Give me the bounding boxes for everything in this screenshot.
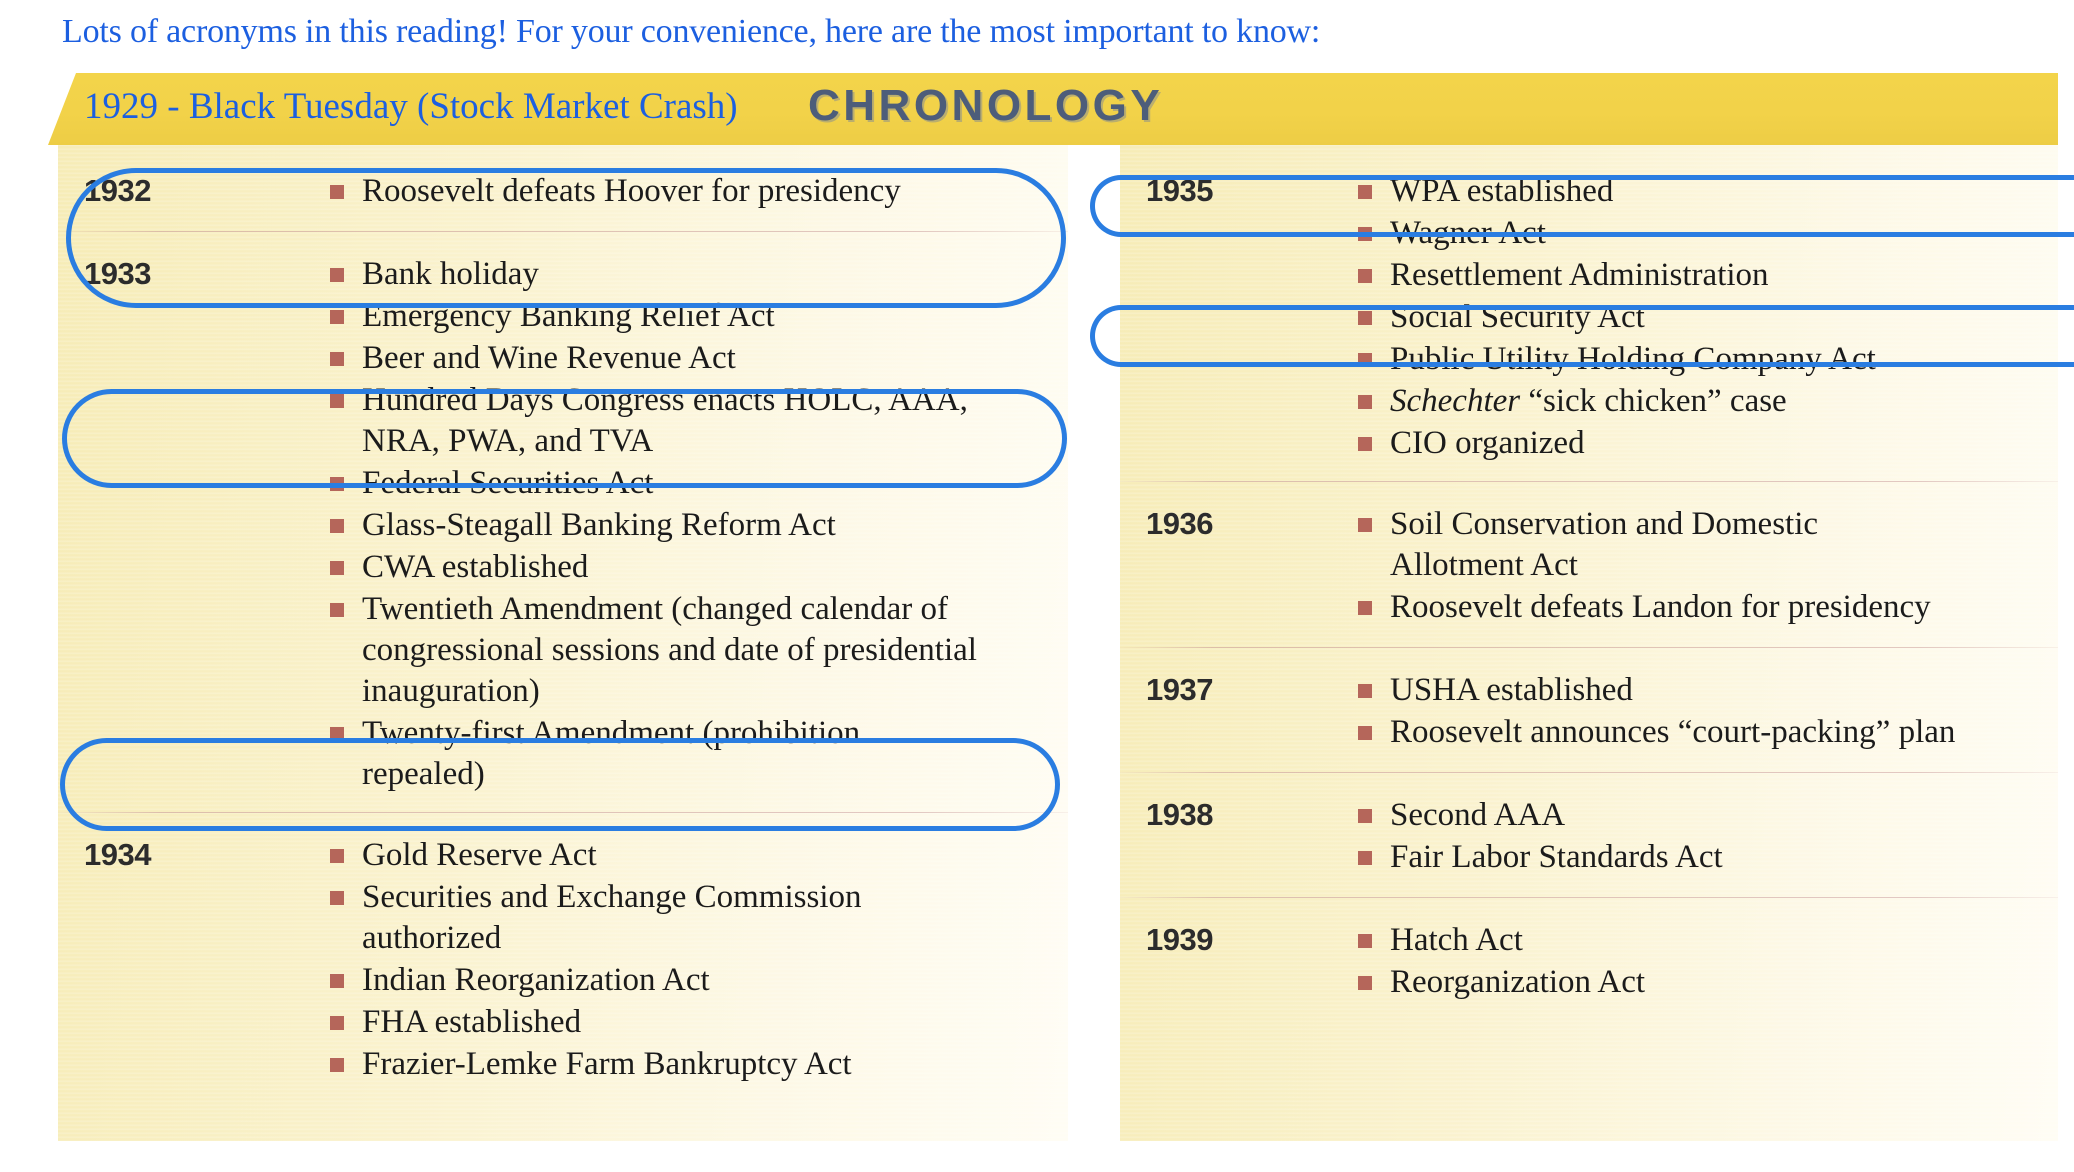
square-bullet-icon xyxy=(1358,227,1372,241)
square-bullet-icon xyxy=(1358,976,1372,990)
list-item: FHA established xyxy=(330,1002,1068,1043)
list-item: Public Utility Holding Company Act xyxy=(1358,339,2058,380)
square-bullet-icon xyxy=(1358,311,1372,325)
square-bullet-icon xyxy=(1358,809,1372,823)
list-item-label: Securities and Exchange Commission autho… xyxy=(362,877,962,959)
year-label: 1938 xyxy=(1120,795,1358,833)
year-label: 1936 xyxy=(1120,504,1358,542)
list-item-label: Public Utility Holding Company Act xyxy=(1390,339,1876,380)
items-list: Bank holiday Emergency Banking Relief Ac… xyxy=(330,254,1068,796)
table-row: 1937 USHA established Roosevelt announce… xyxy=(1120,670,2058,754)
list-item-label: CWA established xyxy=(362,547,588,588)
list-item-label: Soil Conservation and Domestic Allotment… xyxy=(1390,504,1870,586)
year-group-1937: 1937 USHA established Roosevelt announce… xyxy=(1120,648,2058,754)
chronology-banner: 1929 - Black Tuesday (Stock Market Crash… xyxy=(48,73,2058,145)
square-bullet-icon xyxy=(330,352,344,366)
square-bullet-icon xyxy=(330,185,344,199)
square-bullet-icon xyxy=(1358,269,1372,283)
items-list: Second AAA Fair Labor Standards Act xyxy=(1358,795,2058,879)
square-bullet-icon xyxy=(330,974,344,988)
chronology-title: CHRONOLOGY xyxy=(808,81,1163,131)
list-item: Soil Conservation and Domestic Allotment… xyxy=(1358,504,2058,586)
square-bullet-icon xyxy=(1358,353,1372,367)
list-item: Twenty-first Amendment (prohibition repe… xyxy=(330,713,1068,795)
table-row: 1938 Second AAA Fair Labor Standards Act xyxy=(1120,795,2058,879)
black-tuesday-annotation: 1929 - Black Tuesday (Stock Market Crash… xyxy=(84,85,738,128)
list-item: Securities and Exchange Commission autho… xyxy=(330,877,1068,959)
list-item-label: Frazier-Lemke Farm Bankruptcy Act xyxy=(362,1044,852,1085)
items-list: Hatch Act Reorganization Act xyxy=(1358,920,2058,1004)
list-item-label: Second AAA xyxy=(1390,795,1565,836)
list-item-label: Resettlement Administration xyxy=(1390,255,1769,296)
list-item: Fair Labor Standards Act xyxy=(1358,837,2058,878)
list-item: USHA established xyxy=(1358,670,2058,711)
list-item-label: Twentieth Amendment (changed calendar of… xyxy=(362,589,1017,712)
list-item-label: CIO organized xyxy=(1390,423,1585,464)
items-list: Roosevelt defeats Hoover for presidency xyxy=(330,171,1068,213)
table-row: 1933 Bank holiday Emergency Banking Reli… xyxy=(58,254,1068,796)
square-bullet-icon xyxy=(330,394,344,408)
list-item: Resettlement Administration xyxy=(1358,255,2058,296)
list-item-label: Wagner Act xyxy=(1390,213,1546,254)
square-bullet-icon xyxy=(1358,185,1372,199)
square-bullet-icon xyxy=(1358,726,1372,740)
chronology-card: 1929 - Black Tuesday (Stock Market Crash… xyxy=(48,73,2058,1155)
year-group-1935: 1935 WPA established Wagner Act Reset xyxy=(1120,145,2058,465)
square-bullet-icon xyxy=(330,1058,344,1072)
square-bullet-icon xyxy=(330,561,344,575)
list-item: WPA established xyxy=(1358,171,2058,212)
year-group-1934: 1934 Gold Reserve Act Securities and Exc… xyxy=(58,813,1068,1086)
list-item: Emergency Banking Relief Act xyxy=(330,296,1068,337)
list-item: Roosevelt defeats Landon for presidency xyxy=(1358,587,2058,628)
list-item-label: Twenty-first Amendment (prohibition repe… xyxy=(362,713,962,795)
square-bullet-icon xyxy=(1358,851,1372,865)
list-item-label: Roosevelt announces “court-packing” plan xyxy=(1390,712,1955,753)
list-item: Federal Securities Act xyxy=(330,463,1068,504)
year-label: 1932 xyxy=(58,171,330,209)
year-label: 1935 xyxy=(1120,171,1358,209)
list-item-label: Schechter “sick chicken” case xyxy=(1390,381,1787,422)
list-item: Roosevelt defeats Hoover for presidency xyxy=(330,171,1068,212)
items-list: Gold Reserve Act Securities and Exchange… xyxy=(330,835,1068,1086)
list-item-label: USHA established xyxy=(1390,670,1633,711)
list-item: Gold Reserve Act xyxy=(330,835,1068,876)
year-label: 1937 xyxy=(1120,670,1358,708)
list-item-label: Roosevelt defeats Landon for presidency xyxy=(1390,587,1931,628)
list-item-label: Hundred Days Congress enacts HOLC, AAA, … xyxy=(362,380,972,462)
square-bullet-icon xyxy=(330,891,344,905)
list-item-label: Gold Reserve Act xyxy=(362,835,597,876)
square-bullet-icon xyxy=(1358,601,1372,615)
square-bullet-icon xyxy=(330,727,344,741)
list-item-label: Roosevelt defeats Hoover for presidency xyxy=(362,171,901,212)
list-item: Glass-Steagall Banking Reform Act xyxy=(330,505,1068,546)
table-row: 1936 Soil Conservation and Domestic Allo… xyxy=(1120,504,2058,629)
list-item-label: Social Security Act xyxy=(1390,297,1645,338)
year-group-1933: 1933 Bank holiday Emergency Banking Reli… xyxy=(58,232,1068,796)
year-label: 1934 xyxy=(58,835,330,873)
list-item: Social Security Act xyxy=(1358,297,2058,338)
list-item-label: Glass-Steagall Banking Reform Act xyxy=(362,505,836,546)
year-group-1932: 1932 Roosevelt defeats Hoover for presid… xyxy=(58,145,1068,213)
table-row: 1934 Gold Reserve Act Securities and Exc… xyxy=(58,835,1068,1086)
list-item: Frazier-Lemke Farm Bankruptcy Act xyxy=(330,1044,1068,1085)
items-list: Soil Conservation and Domestic Allotment… xyxy=(1358,504,2058,629)
list-item-label: Fair Labor Standards Act xyxy=(1390,837,1723,878)
square-bullet-icon xyxy=(330,1016,344,1030)
list-item: CWA established xyxy=(330,547,1068,588)
schechter-rest: “sick chicken” case xyxy=(1520,383,1787,419)
square-bullet-icon xyxy=(330,603,344,617)
intro-caption: Lots of acronyms in this reading! For yo… xyxy=(62,13,1320,51)
year-label: 1933 xyxy=(58,254,330,292)
list-item: CIO organized xyxy=(1358,423,2058,464)
year-group-1936: 1936 Soil Conservation and Domestic Allo… xyxy=(1120,482,2058,629)
list-item: Hundred Days Congress enacts HOLC, AAA, … xyxy=(330,380,1068,462)
list-item-label: Bank holiday xyxy=(362,254,539,295)
list-item: Bank holiday xyxy=(330,254,1068,295)
list-item-label: WPA established xyxy=(1390,171,1613,212)
chronology-body: 1932 Roosevelt defeats Hoover for presid… xyxy=(48,145,2058,1155)
list-item-label: Indian Reorganization Act xyxy=(362,960,710,1001)
list-item: Twentieth Amendment (changed calendar of… xyxy=(330,589,1068,712)
table-row: 1935 WPA established Wagner Act Reset xyxy=(1120,171,2058,465)
square-bullet-icon xyxy=(330,477,344,491)
square-bullet-icon xyxy=(330,519,344,533)
list-item: Roosevelt announces “court-packing” plan xyxy=(1358,712,2058,753)
square-bullet-icon xyxy=(330,849,344,863)
chronology-right-column: 1935 WPA established Wagner Act Reset xyxy=(1120,145,2058,1141)
list-item: Reorganization Act xyxy=(1358,962,2058,1003)
list-item: Second AAA xyxy=(1358,795,2058,836)
schechter-italic: Schechter xyxy=(1390,383,1520,419)
year-group-1939: 1939 Hatch Act Reorganization Act xyxy=(1120,898,2058,1004)
items-list: WPA established Wagner Act Resettlement … xyxy=(1358,171,2058,465)
year-label: 1939 xyxy=(1120,920,1358,958)
list-item: Beer and Wine Revenue Act xyxy=(330,338,1068,379)
square-bullet-icon xyxy=(1358,934,1372,948)
list-item-label: Emergency Banking Relief Act xyxy=(362,296,775,337)
list-item-schechter: Schechter “sick chicken” case xyxy=(1358,381,2058,422)
list-item-label: Reorganization Act xyxy=(1390,962,1645,1003)
square-bullet-icon xyxy=(1358,437,1372,451)
list-item-label: Beer and Wine Revenue Act xyxy=(362,338,736,379)
list-item-label: FHA established xyxy=(362,1002,581,1043)
items-list: USHA established Roosevelt announces “co… xyxy=(1358,670,2058,754)
square-bullet-icon xyxy=(1358,395,1372,409)
year-group-1938: 1938 Second AAA Fair Labor Standards Act xyxy=(1120,773,2058,879)
list-item-label: Hatch Act xyxy=(1390,920,1523,961)
square-bullet-icon xyxy=(1358,684,1372,698)
list-item: Wagner Act xyxy=(1358,213,2058,254)
square-bullet-icon xyxy=(330,310,344,324)
list-item: Indian Reorganization Act xyxy=(330,960,1068,1001)
chronology-left-column: 1932 Roosevelt defeats Hoover for presid… xyxy=(58,145,1068,1141)
table-row: 1932 Roosevelt defeats Hoover for presid… xyxy=(58,171,1068,213)
list-item-label: Federal Securities Act xyxy=(362,463,653,504)
table-row: 1939 Hatch Act Reorganization Act xyxy=(1120,920,2058,1004)
list-item: Hatch Act xyxy=(1358,920,2058,961)
square-bullet-icon xyxy=(330,268,344,282)
square-bullet-icon xyxy=(1358,518,1372,532)
